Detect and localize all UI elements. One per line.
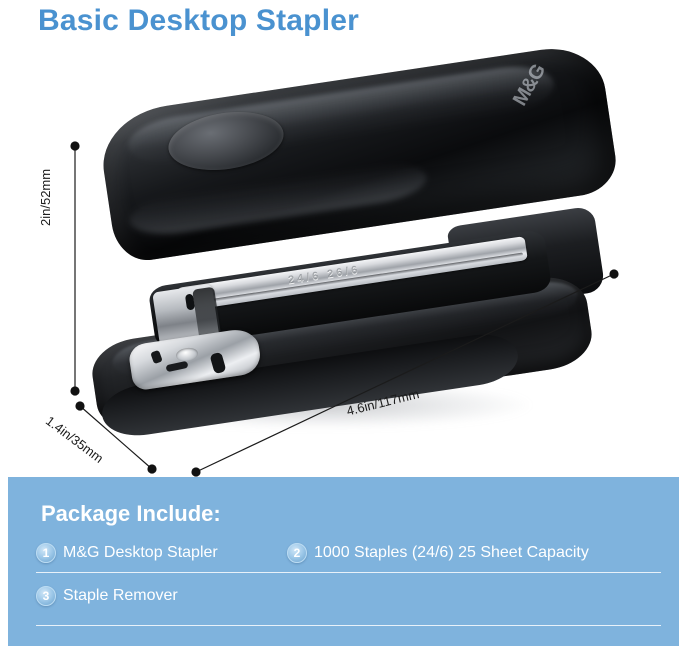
package-include-title: Package Include: [41,501,221,527]
stapler-illustration: 24/6 26/6 M&G [0,30,679,470]
package-item-1: 1 M&G Desktop Stapler [36,543,218,563]
package-item-2-number: 2 [287,543,307,563]
package-divider-2 [36,625,661,626]
package-item-1-label: M&G Desktop Stapler [63,544,218,562]
package-item-1-number: 1 [36,543,56,563]
package-item-3-number: 3 [36,586,56,606]
package-include-panel: Package Include: 1 M&G Desktop Stapler 2… [8,477,679,646]
package-item-2-label: 1000 Staples (24/6) 25 Sheet Capacity [314,544,589,562]
package-item-2: 2 1000 Staples (24/6) 25 Sheet Capacity [287,543,589,563]
package-item-3-label: Staple Remover [63,587,178,605]
height-dimension-label: 2in/52mm [38,169,53,226]
package-item-3: 3 Staple Remover [36,586,178,606]
product-photo-area: 24/6 26/6 M&G [0,30,679,470]
package-divider-1 [36,572,661,573]
product-image-page: Basic Desktop Stapler 24/6 26/6 M&G [0,0,679,646]
